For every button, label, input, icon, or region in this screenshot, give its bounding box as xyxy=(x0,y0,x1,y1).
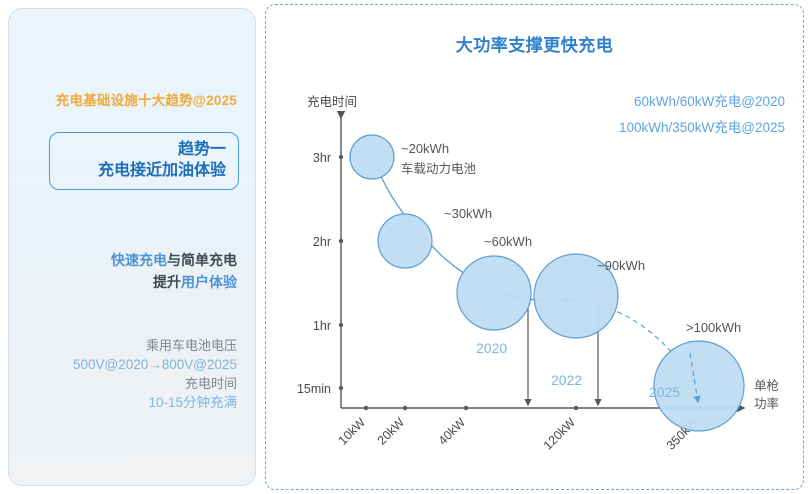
bubble-group xyxy=(350,135,744,431)
chart-panel: 大功率支撑更快充电 60kWh/60kW充电@2020 100kWh/350kW… xyxy=(265,4,804,490)
x-tick-20kW xyxy=(403,406,407,410)
trend-badge-line2: 充电接近加油体验 xyxy=(62,160,226,181)
y-tick-15min xyxy=(339,386,343,390)
x-tick-label-2: 40kW xyxy=(436,415,469,448)
trend-badge-line1: 趋势一 xyxy=(62,139,226,160)
sidebar-subheading: 快速充电与简单充电 提升用户体验 xyxy=(111,249,237,293)
x-tick-label-0: 10kW xyxy=(336,415,369,448)
subheading-part1: 快速充电 xyxy=(111,252,167,268)
bubble-chart: 3hr 2hr 1hr 15min 充电时间 10kW 20kW 40kW 12… xyxy=(266,5,805,491)
year-label-2022: 2022 xyxy=(551,372,582,388)
x-axis-title-line2: 功率 xyxy=(754,396,779,411)
y-axis-title: 充电时间 xyxy=(307,94,357,109)
x-axis-title-line1: 单枪 xyxy=(754,378,780,393)
year-label-2020: 2020 xyxy=(476,340,507,356)
x-tick-120kW xyxy=(574,406,578,410)
subheading-part4: 用户体验 xyxy=(181,274,237,290)
y-tick-label-0: 3hr xyxy=(313,151,331,165)
y-tick-label-2: 1hr xyxy=(313,319,331,333)
bubble-40kW[interactable] xyxy=(457,256,531,330)
subheading-part3: 提升 xyxy=(153,274,181,290)
slide-root: 充电基础设施十大趋势@2025 趋势一 充电接近加油体验 快速充电与简单充电 提… xyxy=(0,0,808,494)
bubble-label-60kWh: ~60kWh xyxy=(484,234,532,249)
subheading-line2: 提升用户体验 xyxy=(111,271,237,293)
subheading-line1: 快速充电与简单充电 xyxy=(111,249,237,271)
fact-value-voltage: 500V@2020→800V@2025 xyxy=(73,355,237,374)
bubble-label-20kWh: ~20kWh xyxy=(401,141,449,156)
fact-label-voltage: 乘用车电池电压 xyxy=(73,336,237,355)
year-label-2025: 2025 xyxy=(649,384,680,400)
x-tick-10kW xyxy=(364,406,368,410)
y-tick-2hr xyxy=(339,239,343,243)
subheading-part2: 与简单充电 xyxy=(167,252,237,268)
bubble-label-30kWh: ~30kWh xyxy=(444,206,492,221)
sidebar-facts: 乘用车电池电压 500V@2020→800V@2025 充电时间 10-15分钟… xyxy=(73,336,237,412)
y-tick-label-1: 2hr xyxy=(313,235,331,249)
y-tick-label-3: 15min xyxy=(297,382,331,396)
bubble-sublabel-20kWh: 车载动力电池 xyxy=(401,161,477,176)
x-tick-label-1: 20kW xyxy=(375,415,408,448)
y-axis: 3hr 2hr 1hr 15min 充电时间 xyxy=(297,94,357,408)
y-tick-1hr xyxy=(339,323,343,327)
bubble-label-100kWh: >100kWh xyxy=(686,320,741,335)
y-tick-3hr xyxy=(339,155,343,159)
fact-value-time: 10-15分钟充满 xyxy=(73,393,237,412)
trend-badge[interactable]: 趋势一 充电接近加油体验 xyxy=(49,132,239,190)
x-tick-40kW xyxy=(464,406,468,410)
x-tick-label-3: 120kW xyxy=(541,415,579,453)
series-title: 充电基础设施十大趋势@2025 xyxy=(56,89,237,109)
sidebar: 充电基础设施十大趋势@2025 趋势一 充电接近加油体验 快速充电与简单充电 提… xyxy=(8,8,256,486)
bubble-20kW[interactable] xyxy=(378,214,432,268)
bubble-label-90kWh: ~90kWh xyxy=(597,258,645,273)
bubble-10kW[interactable] xyxy=(350,135,394,179)
fact-label-time: 充电时间 xyxy=(73,374,237,393)
